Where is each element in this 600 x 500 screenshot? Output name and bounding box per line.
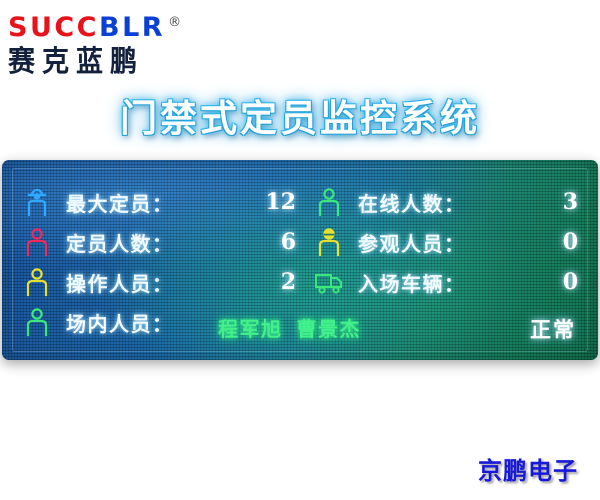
person-yellow-icon (22, 265, 52, 299)
led-label-operators: 操作人员： (66, 268, 174, 297)
led-display-panel: 最大定员： 12 定员人数： 6 (2, 160, 598, 360)
led-label-max-capacity: 最大定员： (66, 188, 174, 217)
led-label-assigned-count: 定员人数： (66, 228, 174, 257)
brand-wordmark: SUCCBLR® (8, 8, 228, 43)
person-online-icon (314, 185, 344, 219)
person-visitor-icon (314, 225, 344, 259)
footer-brand: 京鹏电子 (478, 451, 578, 486)
status-badge: 正常 (530, 314, 576, 344)
led-label-onsite-personnel: 场内人员： (66, 308, 174, 337)
led-row-assigned-count: 定员人数： 6 (22, 222, 314, 262)
led-row-operators: 操作人员： 2 (22, 262, 314, 302)
truck-icon (314, 265, 344, 299)
page-title: 门禁式定员监控系统 (0, 88, 600, 142)
person-red-icon (22, 225, 52, 259)
registered-trademark-icon: ® (168, 15, 181, 30)
person-hardhat-icon (22, 185, 52, 219)
led-value-operators: 2 (281, 269, 314, 295)
wordmark-blr: BLR (99, 12, 165, 43)
led-row-max-capacity: 最大定员： 12 (22, 182, 314, 222)
led-value-online-count: 3 (563, 189, 584, 215)
onsite-name-2: 曹景杰 (297, 317, 362, 341)
led-label-visitors: 参观人员： (358, 228, 466, 257)
led-row-vehicles: 入场车辆： 0 (314, 262, 584, 302)
led-value-assigned-count: 6 (281, 229, 314, 255)
led-value-vehicles: 0 (563, 269, 584, 295)
onsite-name-1: 程军旭 (218, 317, 283, 341)
brand-logo: SUCCBLR® 赛克蓝鹏 (8, 8, 228, 72)
led-onsite-names: 程军旭曹景杰 (218, 313, 361, 342)
led-value-visitors: 0 (563, 229, 584, 255)
led-row-visitors: 参观人员： 0 (314, 222, 584, 262)
brand-chinese-name: 赛克蓝鹏 (8, 44, 228, 81)
person-green-icon (22, 305, 52, 339)
wordmark-succ: SUCC (8, 12, 99, 43)
led-row-online-count: 在线人数： 3 (314, 182, 584, 222)
led-label-online-count: 在线人数： (358, 188, 466, 217)
led-value-max-capacity: 12 (265, 189, 314, 215)
led-label-vehicles: 入场车辆： (358, 268, 466, 297)
